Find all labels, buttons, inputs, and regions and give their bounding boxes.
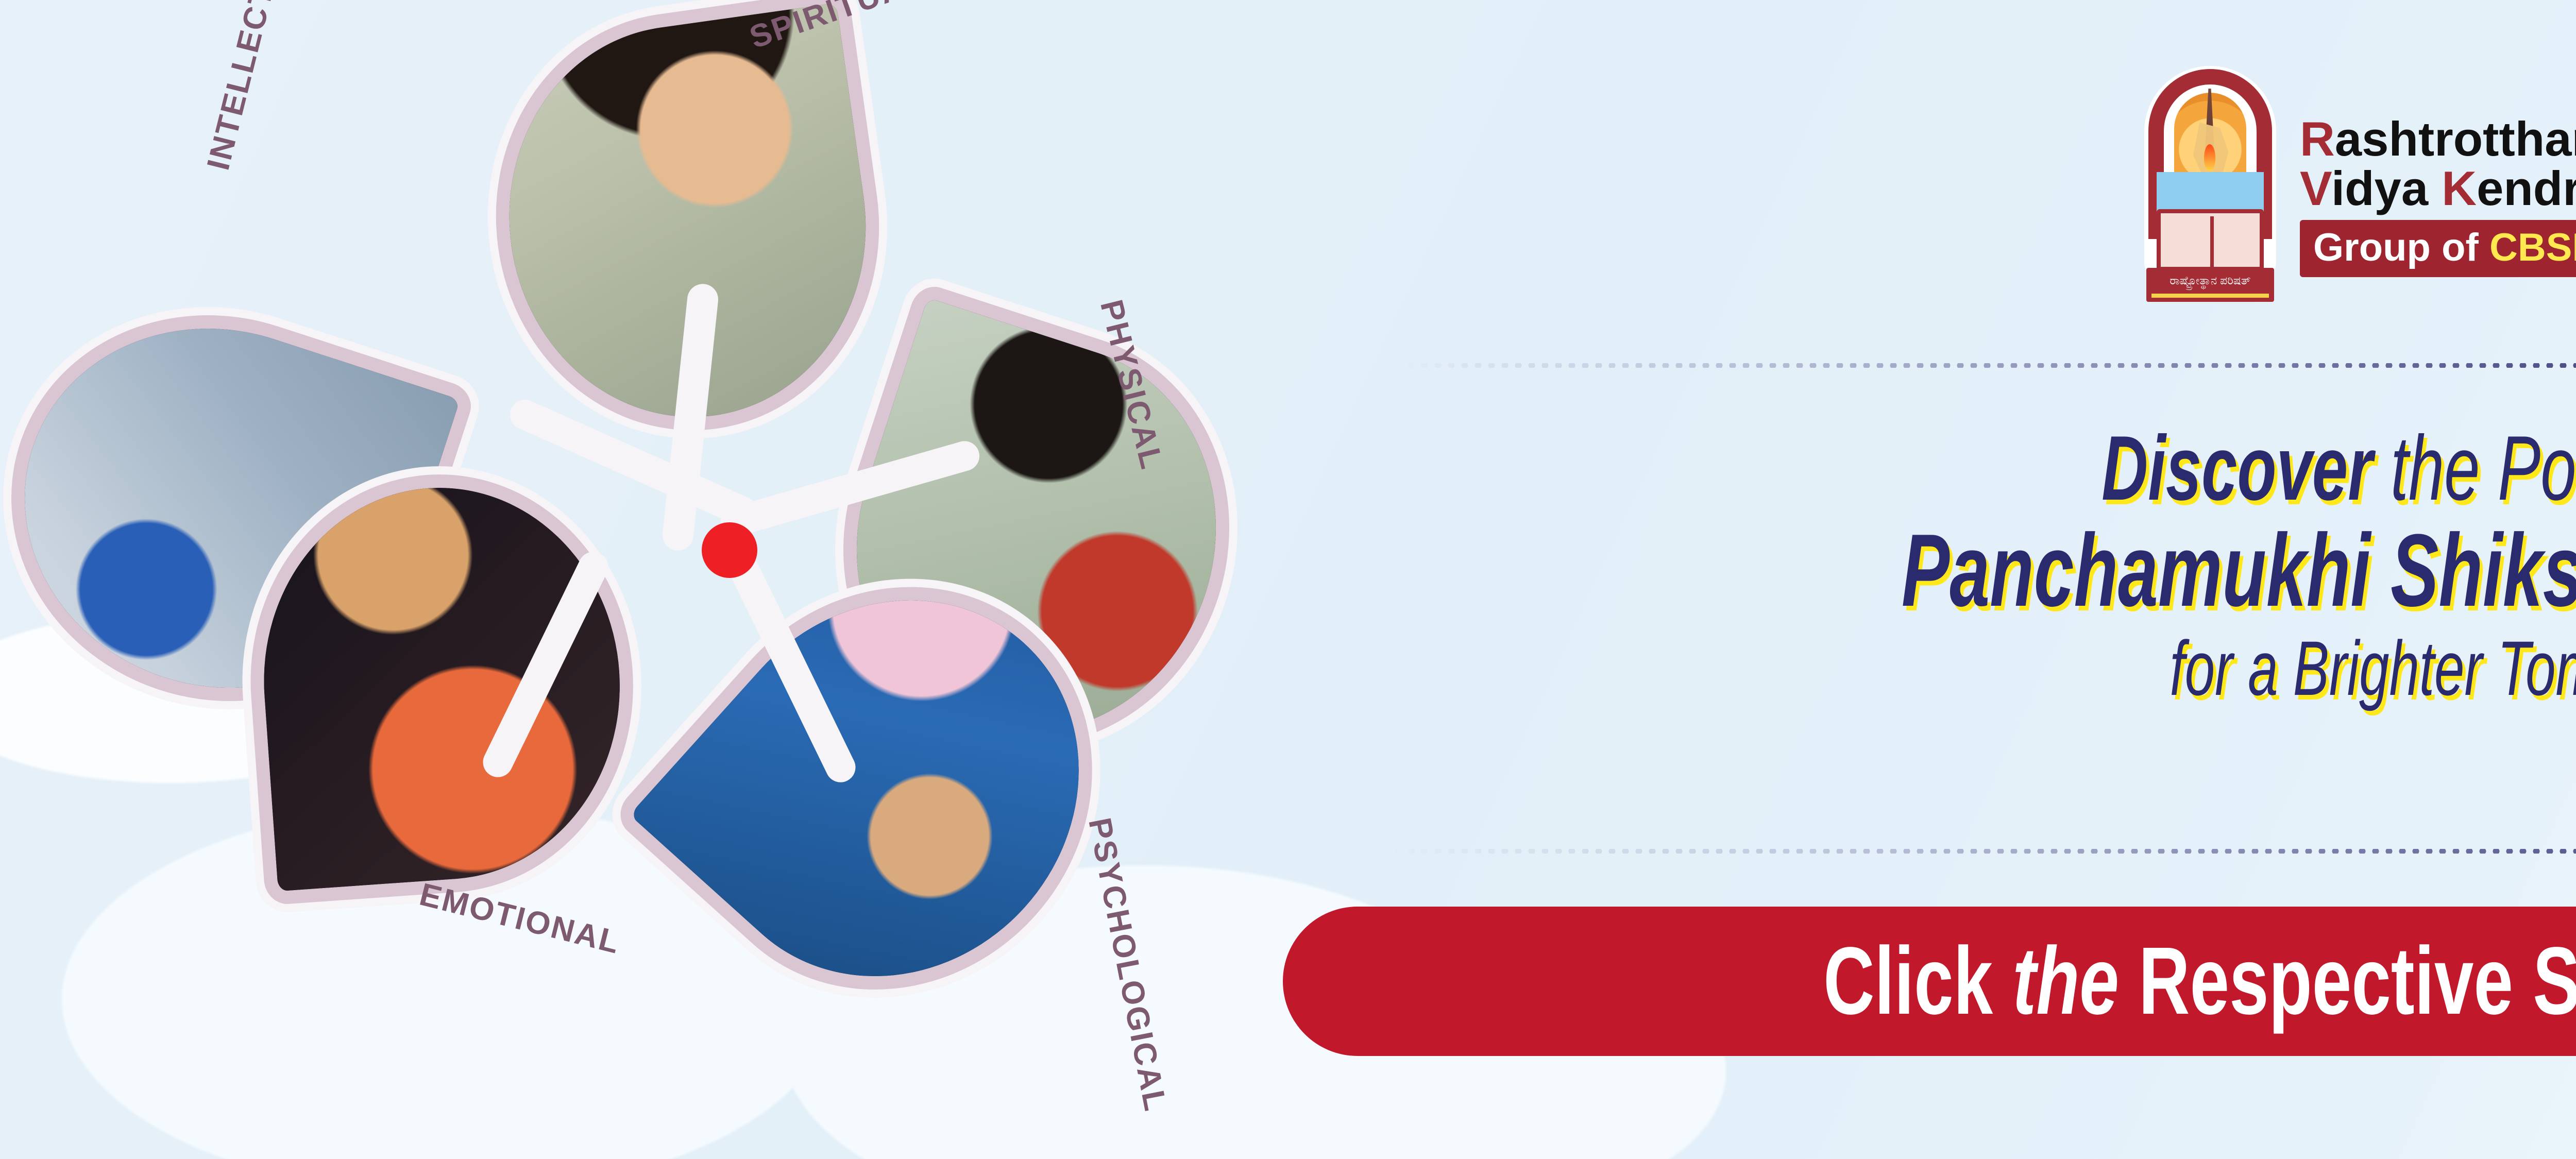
cta-click: Click [1823,928,1993,1034]
headline-discover: Discover [2102,417,2372,519]
brand-wordmark: Rashtrotthana Vidya Kendra Group of CBSE… [2300,114,2576,278]
rashtrotthana-emblem-icon: ರಾಷ್ಟ್ರೋತ್ಥಾನ ಪರಿಷತ್ [2133,62,2287,330]
registration-cta-banner[interactable]: Click the Respective School Tile for Reg… [1283,907,2576,1056]
brand-initial-v: V [2300,161,2331,215]
brand-initial-k: K [2442,161,2477,215]
petal-label-emotional: EMOTIONAL [416,876,624,961]
headline-block: Discover the Power of Panchamukhi Shiksh… [1412,422,2576,707]
flower-center-dot [702,522,757,578]
cta-label: Click the Respective School Tile for Reg… [1823,933,2576,1029]
panchamukhi-flower-collage: SPIRITUAL INTELLECTUAL PHYSICAL EMOTIONA… [170,0,1257,1159]
dotted-rule-top [1391,363,2576,368]
banner-root: SPIRITUAL INTELLECTUAL PHYSICAL EMOTIONA… [0,0,2576,1159]
cbse-schools-badge: Group of CBSE Schools [2300,220,2576,277]
brand-name-rest-1: ashtrotthana [2335,112,2576,166]
petal-label-psychological: PSYCHOLOGICAL [1081,815,1174,1115]
dotted-rule-bottom [1391,849,2576,854]
cbse-badge-prefix: Group of [2313,226,2489,269]
brand-name-line-1: Rashtrotthana [2300,114,2576,164]
brand-name-rest-2: idya [2331,161,2442,215]
petal-photo-emotional [236,462,647,906]
emblem-script-text: ರಾಷ್ಟ್ರೋತ್ಥಾನ ಪರಿಷತ್ [2146,274,2274,287]
headline-power-of: the Power of [2373,417,2576,519]
brand-header: ರಾಷ್ಟ್ರೋತ್ಥಾನ ಪರಿಷತ್ Rashtrotthana Vidya… [2133,62,2576,330]
headline-line-3: for a Brighter Tomorrow! [1412,629,2576,707]
brand-initial-r: R [2300,112,2335,166]
brand-name-line-2: Vidya Kendra [2300,164,2576,213]
headline-line-2: Panchamukhi Shikshana [1412,519,2576,622]
cta-the: the [1993,928,2139,1034]
headline-line-1: Discover the Power of [1412,422,2576,514]
cta-respective-school-tile: Respective School Tile [2139,928,2576,1034]
headline-brighter-tomorrow: for a Brighter Tomorrow! [2170,625,2576,711]
cbse-badge-highlight: CBSE Schools [2489,226,2576,269]
brand-name-rest-3: endra [2477,161,2576,215]
petal-emotional [236,462,647,906]
petal-label-intellectual: INTELLECTUAL [200,0,298,174]
headline-panchamukhi: Panchamukhi Shikshana [1902,513,2576,628]
